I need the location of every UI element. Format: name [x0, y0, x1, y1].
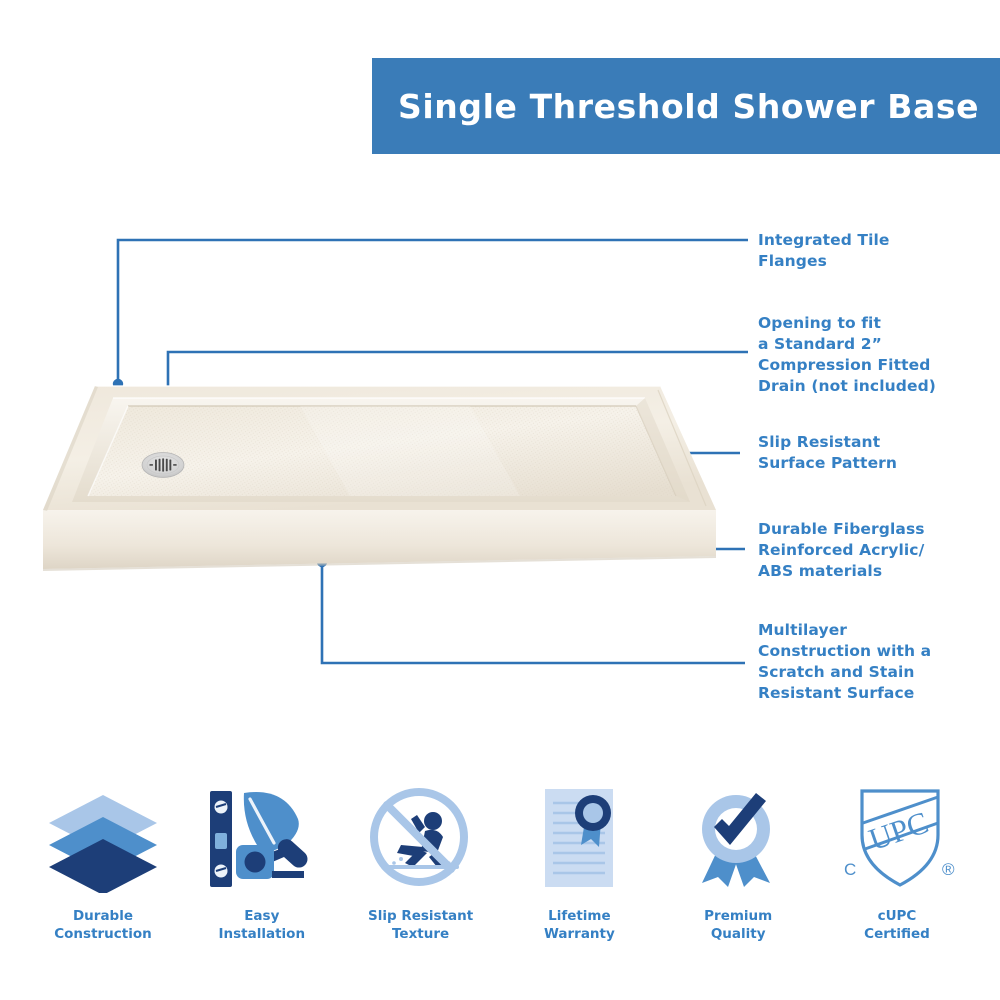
infographic-canvas: Single Threshold Shower Base: [0, 0, 1000, 1000]
feature-premium-quality: Premium Quality: [663, 775, 813, 943]
feature-label: Slip Resistant Texture: [368, 908, 473, 943]
shower-base-illustration: [0, 360, 730, 620]
drain-cover: [142, 453, 184, 478]
base-front-face: [43, 510, 716, 569]
upc-right-mark: ®: [942, 860, 955, 879]
callout-drain-opening: Opening to fit a Standard 2” Compression…: [758, 313, 936, 397]
certificate-icon: [519, 775, 639, 900]
feature-label: Durable Construction: [54, 908, 152, 943]
check-rosette-icon: [678, 775, 798, 900]
feature-label: Easy Installation: [219, 908, 306, 943]
header-banner: Single Threshold Shower Base: [372, 58, 1000, 154]
layers-icon: [43, 775, 163, 900]
page-title: Single Threshold Shower Base: [398, 87, 979, 126]
callout-integrated-tile-flanges: Integrated Tile Flanges: [758, 230, 890, 272]
feature-lifetime-warranty: Lifetime Warranty: [504, 775, 654, 943]
callout-multilayer-construction: Multilayer Construction with a Scratch a…: [758, 620, 931, 704]
upc-shield-text: UPC: [865, 804, 933, 857]
callout-slip-resistant-surface-pattern: Slip Resistant Surface Pattern: [758, 432, 897, 474]
no-slip-icon: [361, 775, 481, 900]
feature-strip: Durable Construction: [0, 775, 1000, 975]
feature-durable-construction: Durable Construction: [28, 775, 178, 943]
feature-slip-resistant-texture: Slip Resistant Texture: [346, 775, 496, 943]
feature-label: Lifetime Warranty: [544, 908, 615, 943]
feature-easy-installation: Easy Installation: [187, 775, 337, 943]
feature-label: cUPC Certified: [864, 908, 930, 943]
callout-durable-materials: Durable Fiberglass Reinforced Acrylic/ A…: [758, 519, 925, 582]
level-trowel-icon: [202, 775, 322, 900]
feature-cupc-certified: UPC C ® cUPC Certified: [822, 775, 972, 943]
feature-label: Premium Quality: [704, 908, 772, 943]
upc-shield-icon: UPC C ®: [834, 775, 959, 900]
upc-left-mark: C: [844, 860, 856, 879]
